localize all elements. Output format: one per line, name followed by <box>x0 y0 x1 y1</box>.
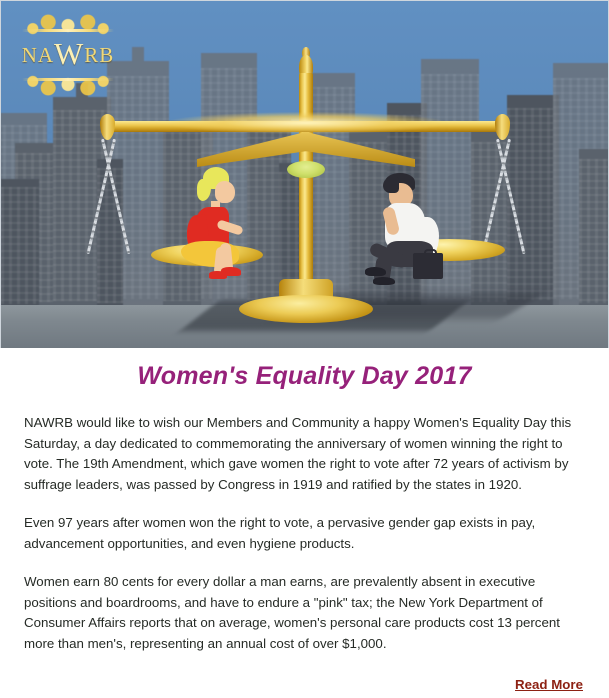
nawrb-logo[interactable]: NAWRB <box>13 11 123 99</box>
newsletter-page: NAWRB Women's Equality Day 2017 NAWRB wo… <box>0 0 609 698</box>
businessman-figure-icon <box>363 173 463 285</box>
logo-lead: NA <box>22 43 54 67</box>
paragraph-1: NAWRB would like to wish our Members and… <box>24 413 585 495</box>
hero-banner: NAWRB <box>0 0 609 348</box>
page-title: Women's Equality Day 2017 <box>24 362 585 391</box>
logo-wordmark: NAWRB <box>13 41 123 68</box>
woman-figure-icon <box>177 167 267 277</box>
read-more-link[interactable]: Read More <box>515 677 583 692</box>
read-more-row: Read More <box>24 676 585 694</box>
article-body: Women's Equality Day 2017 NAWRB would li… <box>0 348 609 694</box>
logo-mark: W <box>54 36 84 71</box>
paragraph-3: Women earn 80 cents for every dollar a m… <box>24 572 585 654</box>
flourish-ornament-icon-bottom <box>13 71 123 97</box>
paragraph-2: Even 97 years after women won the right … <box>24 513 585 554</box>
logo-tail: RB <box>84 43 114 67</box>
